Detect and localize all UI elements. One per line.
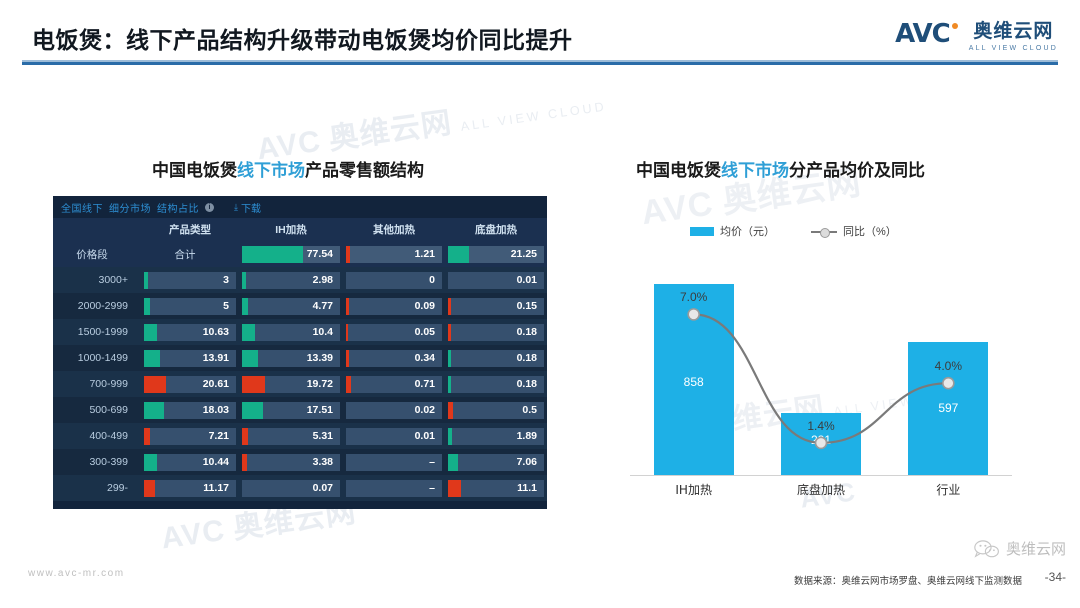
cell-price-band: 价格段 <box>53 241 141 267</box>
cell-base-bar <box>448 298 451 315</box>
cell-product-type-value: 13.91 <box>203 352 229 364</box>
cell-other: 0.71 <box>343 371 445 397</box>
cell-other-value: 0 <box>429 274 435 286</box>
price-band-label: 400-499 <box>56 430 138 442</box>
avg-price-chart: 均价（元） 同比（%） 8587.0%2811.4%5974.0% IH加热底盘… <box>620 215 1020 515</box>
cell-base: 7.06 <box>445 449 547 475</box>
cell-product-type-bar-cell: 3 <box>144 272 236 289</box>
cell-product-type-value: 5 <box>223 300 229 312</box>
cell-product-type-bar-cell: 11.17 <box>144 480 236 497</box>
cell-ih-bar-cell: 4.77 <box>242 298 340 315</box>
cell-base: 0.5 <box>445 397 547 423</box>
cell-ih-value: 17.51 <box>307 404 333 416</box>
cell-base-bar-cell: 21.25 <box>448 246 544 263</box>
cell-product-type-bar-cell: 7.21 <box>144 428 236 445</box>
left-title-highlight: 线下市场 <box>237 161 305 181</box>
price-band-label: 1000-1499 <box>56 352 138 364</box>
cell-other-bar-cell: 0 <box>346 272 442 289</box>
cell-product-type-bar-cell: 10.63 <box>144 324 236 341</box>
table-header-row: 产品类型 IH加热 其他加热 底盘加热 <box>53 218 547 241</box>
yoy-line-marker[interactable] <box>688 309 699 320</box>
cell-other-bar <box>346 298 349 315</box>
cell-other: – <box>343 475 445 501</box>
legend-line-swatch <box>811 227 837 236</box>
cell-base-bar-cell: 1.89 <box>448 428 544 445</box>
cell-base-bar <box>448 350 451 367</box>
cell-ih: 0.07 <box>239 475 343 501</box>
cell-product-type: 7.21 <box>141 423 239 449</box>
table-row: 700-99920.6119.720.710.18 <box>53 371 547 397</box>
price-band-label: 2000-2999 <box>56 300 138 312</box>
cell-other: 0.02 <box>343 397 445 423</box>
chart-category-label: IH加热 <box>630 481 757 498</box>
table-row: 2000-299954.770.090.15 <box>53 293 547 319</box>
cell-base-value: 0.18 <box>517 378 537 390</box>
logo-abbr: AVC <box>895 19 950 49</box>
cell-product-type-bar <box>144 324 157 341</box>
cell-other: – <box>343 449 445 475</box>
cell-other-bar <box>346 324 348 341</box>
cell-price-band: 299- <box>53 475 141 501</box>
cell-base-value: 7.06 <box>517 456 537 468</box>
col-header-base[interactable]: 底盘加热 <box>445 218 547 241</box>
cell-base: 0.15 <box>445 293 547 319</box>
cell-product-type-value: 3 <box>223 274 229 286</box>
cell-base-bar <box>448 454 458 471</box>
cell-ih: 19.72 <box>239 371 343 397</box>
cell-ih-bar <box>242 246 303 263</box>
cell-price-band: 300-399 <box>53 449 141 475</box>
cell-other: 0.05 <box>343 319 445 345</box>
cell-ih-bar-cell: 19.72 <box>242 376 340 393</box>
cell-base-value: 0.5 <box>522 404 537 416</box>
cell-product-type: 5 <box>141 293 239 319</box>
slide-root: AVC 奥维云网 ALL VIEW CLOUD AVC 奥维云网 奥维云网 AL… <box>0 0 1080 608</box>
legend-line-label: 同比（%） <box>843 223 897 239</box>
legend-item-bar[interactable]: 均价（元） <box>690 223 775 239</box>
cell-other-bar-cell: 0.02 <box>346 402 442 419</box>
cell-product-type: 10.63 <box>141 319 239 345</box>
right-title-highlight: 线下市场 <box>721 161 789 181</box>
cell-ih: 17.51 <box>239 397 343 423</box>
cell-other-bar-cell: – <box>346 454 442 471</box>
cell-product-type-value: 18.03 <box>203 404 229 416</box>
cell-product-type: 18.03 <box>141 397 239 423</box>
cell-ih-bar <box>242 298 248 315</box>
legend-bar-swatch <box>690 227 714 236</box>
table-row: 3000+32.9800.01 <box>53 267 547 293</box>
avc-logo: AVC 奥维云网 ALL VIEW CLOUD <box>895 14 1058 54</box>
cell-base-bar-cell: 0.01 <box>448 272 544 289</box>
chart-legend: 均价（元） 同比（%） <box>690 223 897 239</box>
yoy-line-series <box>630 257 1012 475</box>
cell-product-type-value: 20.61 <box>203 378 229 390</box>
right-chart-title: 中国电饭煲线下市场分产品均价及同比 <box>636 156 925 181</box>
cell-other-bar-cell: 0.34 <box>346 350 442 367</box>
cell-ih-bar-cell: 0.07 <box>242 480 340 497</box>
cell-product-type-bar <box>144 454 157 471</box>
download-icon: ⤓ <box>234 202 238 213</box>
cell-ih: 10.4 <box>239 319 343 345</box>
cell-ih-value: 2.98 <box>313 274 333 286</box>
cell-ih-bar <box>242 428 248 445</box>
cell-other-bar-cell: 0.71 <box>346 376 442 393</box>
cell-ih-bar <box>242 272 246 289</box>
cell-product-type: 合计 <box>141 241 239 267</box>
cell-product-type-bar-cell: 13.91 <box>144 350 236 367</box>
cell-other-value: 0.02 <box>415 404 435 416</box>
cell-ih-value: 13.39 <box>307 352 333 364</box>
cell-other-value: 1.21 <box>415 248 435 260</box>
cell-price-band: 700-999 <box>53 371 141 397</box>
cell-product-type-bar <box>144 298 150 315</box>
table-row: 1000-149913.9113.390.340.18 <box>53 345 547 371</box>
download-button[interactable]: ⤓ 下载 <box>234 200 261 215</box>
cell-base: 0.01 <box>445 267 547 293</box>
cell-product-type: 3 <box>141 267 239 293</box>
cell-product-type-bar <box>144 272 148 289</box>
watermark: AVC 奥维云网 ALL VIEW CLOUD <box>254 76 609 169</box>
cell-ih-value: 19.72 <box>307 378 333 390</box>
table-row: 300-39910.443.38–7.06 <box>53 449 547 475</box>
cell-other-bar-cell: 1.21 <box>346 246 442 263</box>
cell-base-bar-cell: 7.06 <box>448 454 544 471</box>
cell-base: 0.18 <box>445 345 547 371</box>
legend-bar-label: 均价（元） <box>720 223 775 239</box>
cell-ih-value: 3.38 <box>313 456 333 468</box>
cell-ih-value: 0.07 <box>313 482 333 494</box>
left-title-pre: 中国电饭煲 <box>152 161 237 181</box>
cell-base-bar-cell: 11.1 <box>448 480 544 497</box>
wechat-label: 奥维云网 <box>1006 538 1066 559</box>
cell-ih-bar-cell: 77.54 <box>242 246 340 263</box>
cell-other: 1.21 <box>343 241 445 267</box>
logo-cn-name: 奥维云网 <box>973 16 1053 43</box>
cell-base-value: 0.18 <box>517 352 537 364</box>
cell-base-bar-cell: 0.18 <box>448 376 544 393</box>
cell-ih-bar <box>242 376 265 393</box>
logo-text-block: 奥维云网 ALL VIEW CLOUD <box>969 16 1058 52</box>
cell-other-value: 0.09 <box>415 300 435 312</box>
cell-product-type-bar-cell: 18.03 <box>144 402 236 419</box>
cell-ih: 4.77 <box>239 293 343 319</box>
cell-other-value: 0.05 <box>415 326 435 338</box>
cell-other-bar <box>346 246 350 263</box>
price-band-label: 1500-1999 <box>56 326 138 338</box>
cell-ih-value: 5.31 <box>313 430 333 442</box>
cell-base-value: 0.01 <box>517 274 537 286</box>
chart-category-label: 行业 <box>885 481 1012 498</box>
toolbar-metric[interactable]: 结构占比 <box>157 200 199 215</box>
cell-price-band: 400-499 <box>53 423 141 449</box>
cell-price-band: 1500-1999 <box>53 319 141 345</box>
chart-category-label: 底盘加热 <box>757 481 884 498</box>
cell-product-type-bar-cell: 5 <box>144 298 236 315</box>
cell-ih-bar <box>242 454 247 471</box>
left-title-post: 产品零售额结构 <box>305 161 424 181</box>
cell-ih-bar <box>242 350 258 367</box>
watermark-avc: AVC <box>159 514 227 556</box>
cell-product-type: 11.17 <box>141 475 239 501</box>
cell-other: 0.01 <box>343 423 445 449</box>
cell-base-value: 11.1 <box>517 482 537 494</box>
download-label: 下载 <box>241 200 261 215</box>
cell-product-type-bar-cell: 10.44 <box>144 454 236 471</box>
cell-base-bar <box>448 246 469 263</box>
right-title-post: 分产品均价及同比 <box>789 161 925 181</box>
right-title-pre: 中国电饭煲 <box>636 161 721 181</box>
table-row: 500-69918.0317.510.020.5 <box>53 397 547 423</box>
cell-ih-bar-cell: 10.4 <box>242 324 340 341</box>
logo-dot-icon <box>952 23 958 29</box>
table-row: 299-11.170.07–11.1 <box>53 475 547 501</box>
cell-ih-bar-cell: 17.51 <box>242 402 340 419</box>
cell-product-type-value: 10.44 <box>203 456 229 468</box>
cell-product-type: 20.61 <box>141 371 239 397</box>
cell-ih: 13.39 <box>239 345 343 371</box>
cell-ih-bar <box>242 324 255 341</box>
cell-price-band: 3000+ <box>53 267 141 293</box>
cell-base: 11.1 <box>445 475 547 501</box>
cell-ih-value: 4.77 <box>313 300 333 312</box>
cell-price-band: 500-699 <box>53 397 141 423</box>
cell-ih-bar <box>242 402 263 419</box>
page-number: -34- <box>1045 570 1066 584</box>
cell-base-value: 0.18 <box>517 326 537 338</box>
cell-ih-value: 77.54 <box>307 248 333 260</box>
cell-ih: 2.98 <box>239 267 343 293</box>
cell-product-type-value: 7.21 <box>209 430 229 442</box>
cell-base-bar <box>448 402 453 419</box>
cell-product-type-bar-cell: 20.61 <box>144 376 236 393</box>
cell-product-type-bar <box>144 402 164 419</box>
structure-table: 产品类型 IH加热 其他加热 底盘加热 价格段合计77.541.2121.253… <box>53 218 547 501</box>
left-chart-title: 中国电饭煲线下市场产品零售额结构 <box>152 156 424 181</box>
cell-other: 0 <box>343 267 445 293</box>
cell-ih-bar-cell: 5.31 <box>242 428 340 445</box>
cell-product-type-value: 11.17 <box>203 482 229 494</box>
cell-other: 0.34 <box>343 345 445 371</box>
cell-base-bar-cell: 0.18 <box>448 350 544 367</box>
cell-price-band: 2000-2999 <box>53 293 141 319</box>
yoy-line-path <box>694 314 949 443</box>
cell-other-value: – <box>429 456 435 468</box>
price-band-label: 299- <box>56 482 138 494</box>
cell-product-type-bar <box>144 480 155 497</box>
col-header-ih[interactable]: IH加热 <box>239 218 343 241</box>
cell-product-type-bar <box>144 350 160 367</box>
cell-base-bar-cell: 0.15 <box>448 298 544 315</box>
cell-base-value: 1.89 <box>517 430 537 442</box>
cell-base-bar <box>448 324 451 341</box>
chart-x-axis <box>630 475 1012 476</box>
data-source-note: 数据来源：奥维云网市场罗盘、奥维云网线下监测数据 <box>794 573 1022 587</box>
cell-base: 21.25 <box>445 241 547 267</box>
col-header-product-type[interactable]: 产品类型 <box>141 218 239 241</box>
cell-other-bar <box>346 350 349 367</box>
cell-ih-bar-cell: 2.98 <box>242 272 340 289</box>
cell-other: 0.09 <box>343 293 445 319</box>
title-divider <box>22 62 1058 65</box>
cell-ih-bar-cell: 3.38 <box>242 454 340 471</box>
cell-other-bar-cell: 0.09 <box>346 298 442 315</box>
cell-base: 1.89 <box>445 423 547 449</box>
cell-price-band: 1000-1499 <box>53 345 141 371</box>
table-toolbar: 全国线下 细分市场 结构占比 i ⤓ 下载 <box>53 196 547 218</box>
price-band-label: 价格段 <box>56 247 138 262</box>
yoy-line-marker[interactable] <box>816 437 827 448</box>
toolbar-scope[interactable]: 全国线下 <box>61 200 103 215</box>
cell-ih: 5.31 <box>239 423 343 449</box>
col-header-blank <box>53 218 141 241</box>
logo-tagline: ALL VIEW CLOUD <box>969 45 1058 52</box>
table-row: 1500-199910.6310.40.050.18 <box>53 319 547 345</box>
logo-mark: AVC <box>895 19 958 49</box>
retail-structure-table-panel: 全国线下 细分市场 结构占比 i ⤓ 下载 产品类型 IH加热 其他加热 底盘加… <box>53 196 547 509</box>
price-band-label: 300-399 <box>56 456 138 468</box>
cell-ih: 3.38 <box>239 449 343 475</box>
toolbar-segment[interactable]: 细分市场 <box>109 200 151 215</box>
wechat-badge: 奥维云网 <box>974 538 1066 559</box>
cell-other-value: 0.01 <box>415 430 435 442</box>
cell-base-bar-cell: 0.5 <box>448 402 544 419</box>
cell-other-value: 0.71 <box>415 378 435 390</box>
yoy-line-marker[interactable] <box>943 378 954 389</box>
info-icon[interactable]: i <box>205 203 214 212</box>
slide-header: 电饭煲：线下产品结构升级带动电饭煲均价同比提升 AVC 奥维云网 ALL VIE… <box>0 0 1080 68</box>
cell-base: 0.18 <box>445 319 547 345</box>
wechat-icon <box>974 539 1000 559</box>
col-header-other[interactable]: 其他加热 <box>343 218 445 241</box>
cell-product-type: 13.91 <box>141 345 239 371</box>
cell-base-bar <box>448 376 451 393</box>
cell-base-bar <box>448 480 461 497</box>
table-row: 400-4997.215.310.011.89 <box>53 423 547 449</box>
cell-product-type-bar <box>144 376 166 393</box>
cell-base-bar-cell: 0.18 <box>448 324 544 341</box>
cell-ih: 77.54 <box>239 241 343 267</box>
cell-product-type-bar <box>144 428 150 445</box>
cell-product-type-label: 合计 <box>144 247 236 262</box>
watermark-cn: 奥维云网 <box>327 106 454 156</box>
cell-base-value: 21.25 <box>511 248 537 260</box>
cell-base-value: 0.15 <box>517 300 537 312</box>
price-band-label: 3000+ <box>56 274 138 286</box>
watermark-sub: ALL VIEW CLOUD <box>460 99 608 133</box>
cell-product-type-value: 10.63 <box>203 326 229 338</box>
cell-other-bar-cell: – <box>346 480 442 497</box>
cell-other-bar <box>346 376 351 393</box>
legend-item-line[interactable]: 同比（%） <box>811 223 897 239</box>
table-body: 价格段合计77.541.2121.253000+32.9800.012000-2… <box>53 241 547 501</box>
table-row: 价格段合计77.541.2121.25 <box>53 241 547 267</box>
cell-other-value: 0.34 <box>415 352 435 364</box>
price-band-label: 700-999 <box>56 378 138 390</box>
cell-other-value: – <box>429 482 435 494</box>
cell-product-type: 10.44 <box>141 449 239 475</box>
page-title: 电饭煲：线下产品结构升级带动电饭煲均价同比提升 <box>32 21 573 55</box>
cell-ih-bar-cell: 13.39 <box>242 350 340 367</box>
price-band-label: 500-699 <box>56 404 138 416</box>
cell-ih-value: 10.4 <box>313 326 333 338</box>
cell-other-bar-cell: 0.05 <box>346 324 442 341</box>
cell-base: 0.18 <box>445 371 547 397</box>
cell-base-bar <box>448 428 452 445</box>
site-url: www.avc-mr.com <box>28 568 125 579</box>
cell-other-bar-cell: 0.01 <box>346 428 442 445</box>
